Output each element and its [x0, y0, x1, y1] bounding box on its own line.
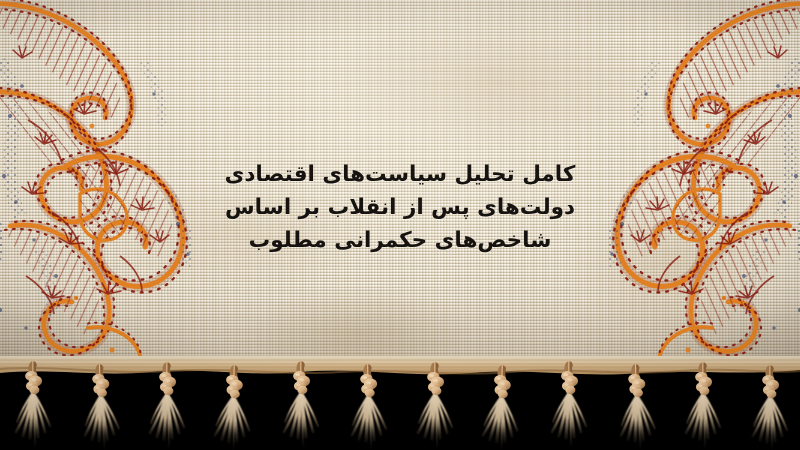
page-title: کامل تحلیل سیاست‌های اقتصادی دولت‌های پس… — [0, 158, 800, 257]
tassel-fringe — [0, 356, 800, 450]
title-card-canvas: کامل تحلیل سیاست‌های اقتصادی دولت‌های پس… — [0, 0, 800, 450]
title-line-1: کامل تحلیل سیاست‌های اقتصادی — [0, 158, 800, 191]
title-line-2: دولت‌های پس از انقلاب بر اساس — [0, 191, 800, 224]
title-line-3: شاخص‌های حکمرانی مطلوب — [0, 224, 800, 257]
